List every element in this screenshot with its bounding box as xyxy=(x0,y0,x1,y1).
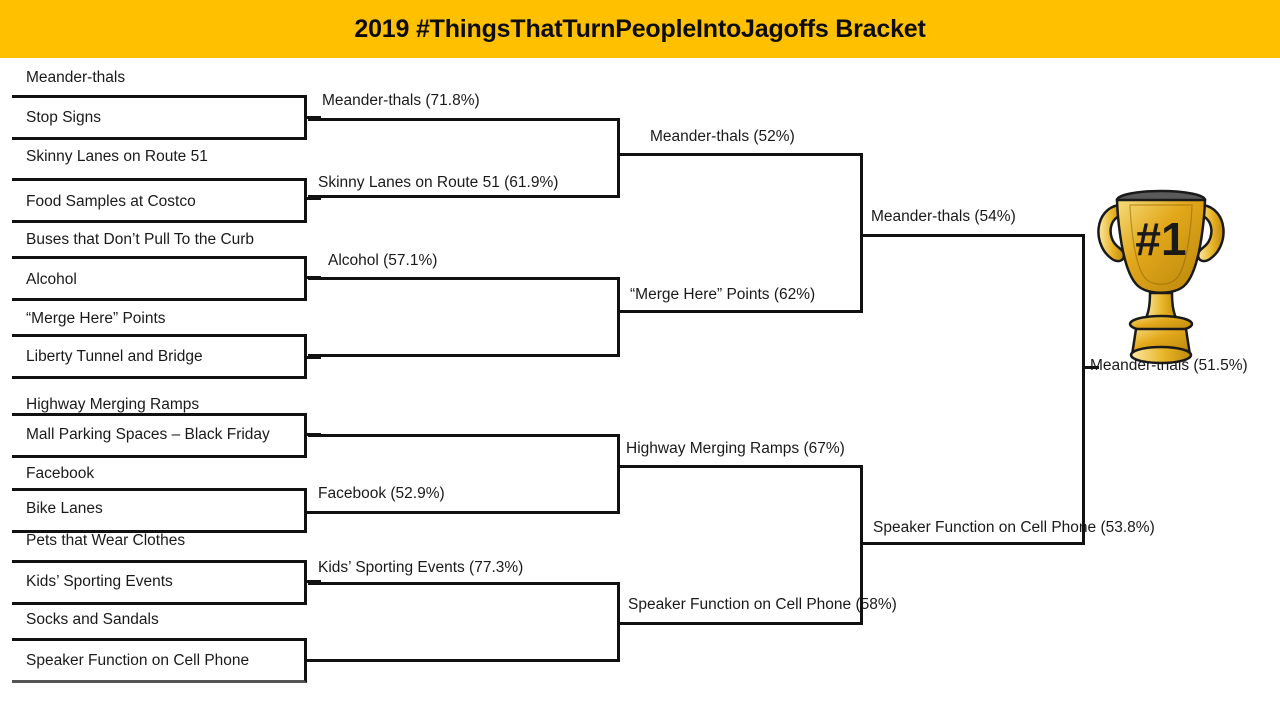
team-label-9: Highway Merging Ramps xyxy=(26,397,199,413)
round2-winner-label-2: Skinny Lanes on Route 51 (61.9%) xyxy=(318,175,558,191)
team-label-16: Speaker Function on Cell Phone xyxy=(26,653,249,669)
team-label-14: Kids’ Sporting Events xyxy=(26,574,173,590)
team-label-1: Meander-thals xyxy=(26,70,125,86)
title-band: 2019 #ThingsThatTurnPeopleIntoJagoffs Br… xyxy=(0,0,1280,58)
connector-r1-6 xyxy=(307,511,321,514)
round3-winner-label-3: Highway Merging Ramps (67%) xyxy=(626,441,845,457)
team-label-2: Stop Signs xyxy=(26,110,101,126)
team-label-12: Bike Lanes xyxy=(26,501,103,517)
round2-winner-label-6: Facebook (52.9%) xyxy=(318,486,445,502)
round2-box-4 xyxy=(308,582,620,662)
round2-winner-label-7: Kids’ Sporting Events (77.3%) xyxy=(318,560,523,576)
round2-box-2 xyxy=(308,277,620,357)
connector-r1-4 xyxy=(307,356,321,359)
bracket-canvas: 2019 #ThingsThatTurnPeopleIntoJagoffs Br… xyxy=(0,0,1280,720)
connector-r1-8 xyxy=(307,659,321,662)
team-label-8: Liberty Tunnel and Bridge xyxy=(26,349,203,365)
round4-box-1 xyxy=(863,234,1085,545)
team-label-3: Skinny Lanes on Route 51 xyxy=(26,149,208,165)
team-label-6: Alcohol xyxy=(26,272,77,288)
team-label-15: Socks and Sandals xyxy=(26,612,159,628)
round3-winner-label-4: Speaker Function on Cell Phone (58%) xyxy=(628,597,897,613)
team-label-4: Food Samples at Costco xyxy=(26,194,196,210)
team-label-10: Mall Parking Spaces – Black Friday xyxy=(26,427,270,443)
round2-winner-label-3: Alcohol (57.1%) xyxy=(328,253,437,269)
team-label-11: Facebook xyxy=(26,466,94,482)
team-label-5: Buses that Don’t Pull To the Curb xyxy=(26,232,254,248)
round4-winner-label-1: Meander-thals (54%) xyxy=(871,209,1016,225)
round2-winner-label-1: Meander-thals (71.8%) xyxy=(322,93,480,109)
page-title: 2019 #ThingsThatTurnPeopleIntoJagoffs Br… xyxy=(0,0,1280,58)
round4-winner-label-2: Speaker Function on Cell Phone (53.8%) xyxy=(873,520,1155,536)
trophy-icon: #1 xyxy=(1086,183,1236,368)
round3-winner-label-2: “Merge Here” Points (62%) xyxy=(630,287,815,303)
connector-r1-2 xyxy=(307,197,321,200)
team-label-7: “Merge Here” Points xyxy=(26,311,166,327)
round3-winner-label-1: Meander-thals (52%) xyxy=(650,129,795,145)
round2-box-3 xyxy=(308,434,620,514)
trophy-number: #1 xyxy=(1135,213,1186,265)
team-label-13: Pets that Wear Clothes xyxy=(26,533,185,549)
